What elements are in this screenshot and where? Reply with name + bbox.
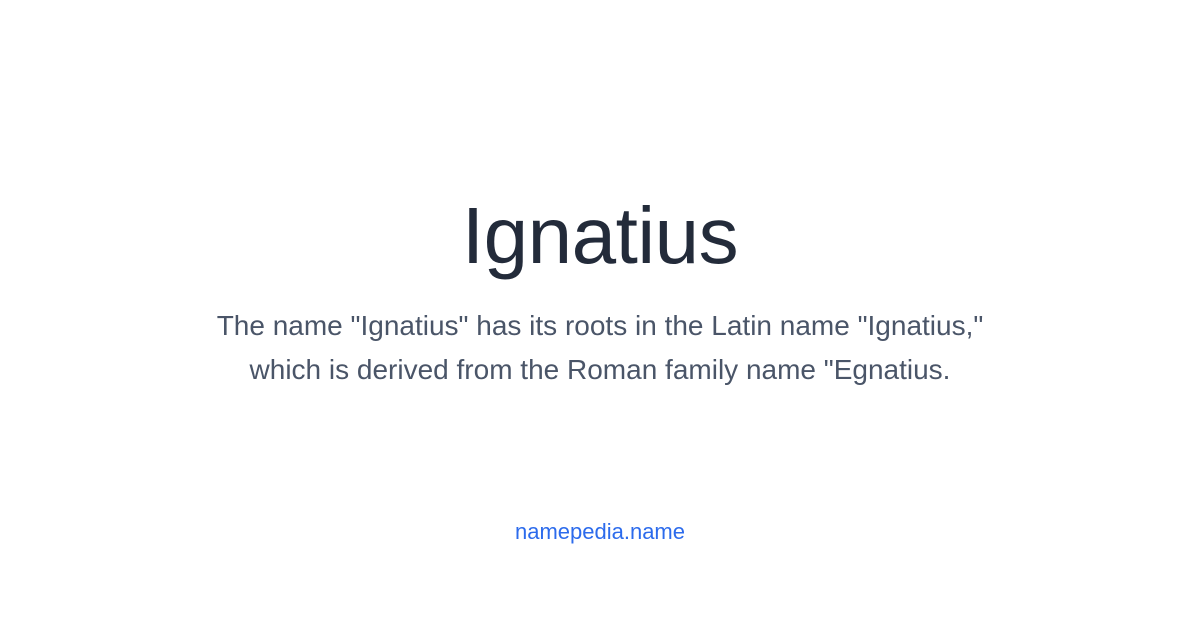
name-description: The name "Ignatius" has its roots in the…: [160, 304, 1040, 392]
card-footer: namepedia.name: [0, 518, 1200, 546]
card-body: Ignatius The name "Ignatius" has its roo…: [0, 0, 1200, 392]
site-link[interactable]: namepedia.name: [515, 518, 685, 546]
name-preview-card: Ignatius The name "Ignatius" has its roo…: [0, 0, 1200, 630]
page-title: Ignatius: [462, 196, 738, 276]
